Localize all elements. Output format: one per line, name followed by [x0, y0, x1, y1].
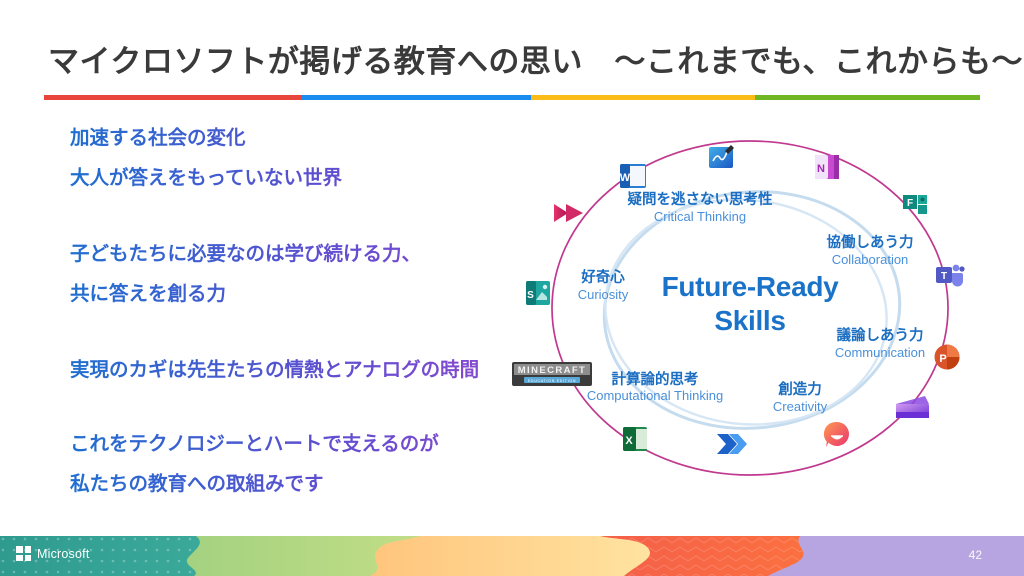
accent-segment-yellow [531, 95, 756, 100]
svg-text:EDUCATION EDITION: EDUCATION EDITION [528, 379, 576, 383]
microsoft-logo-text: Microsoft [37, 547, 90, 561]
body-line-2: 大人が答えをもっていない世界 [70, 158, 510, 198]
microsoft-logo-icon [16, 546, 31, 561]
accent-segment-green [755, 95, 980, 100]
accent-segment-blue [301, 95, 530, 100]
skill-computational-thinking: 計算論的思考 Computational Thinking [580, 372, 730, 403]
svg-text:F: F [907, 198, 913, 209]
body-line-3: 子どもたちに必要なのは学び続ける力、 [70, 234, 510, 274]
slide-canvas: マイクロソフトが掲げる教育への思い 〜これまでも、これからも〜 加速する社会の変… [0, 0, 1024, 576]
page-title: マイクロソフトが掲げる教育への思い 〜これまでも、これからも〜 [48, 36, 968, 81]
body-line-1: 加速する社会の変化 [70, 118, 510, 158]
accent-bar [44, 95, 980, 100]
svg-text:W: W [620, 172, 631, 184]
skill-creativity: 創造力 Creativity [740, 382, 860, 414]
svg-text:MINECRAFT: MINECRAFT [518, 365, 587, 376]
skill-critical-thinking: 疑問を逃さない思考性 Critical Thinking [600, 192, 800, 224]
slide-footer: Microsoft 42 [0, 536, 1024, 576]
footer-decoration [0, 536, 1024, 576]
skill-collaboration: 協働しあう力 Collaboration [790, 235, 950, 267]
microsoft-logo: Microsoft [16, 546, 90, 561]
body-line-7: 私たちの教育への取組みです [70, 464, 510, 504]
future-ready-skills-diagram: Future-Ready Skills 疑問を逃さない思考性 Critical … [500, 130, 1000, 490]
body-line-4: 共に答えを創る力 [70, 274, 510, 314]
accent-segment-red [44, 95, 301, 100]
skill-curiosity: 好奇心 Curiosity [548, 270, 658, 302]
body-line-6: これをテクノロジーとハートで支えるのが [70, 424, 510, 464]
page-number: 42 [969, 548, 982, 562]
svg-text:S: S [527, 290, 534, 301]
svg-text:N: N [817, 163, 825, 175]
svg-text:X: X [625, 435, 633, 447]
body-text-block: 加速する社会の変化 大人が答えをもっていない世界 子どもたちに必要なのは学び続け… [70, 118, 510, 504]
body-line-5: 実現のカギは先生たちの情熱とアナログの時間 [70, 350, 510, 390]
svg-text:T: T [941, 271, 947, 282]
svg-text:P: P [939, 353, 946, 365]
